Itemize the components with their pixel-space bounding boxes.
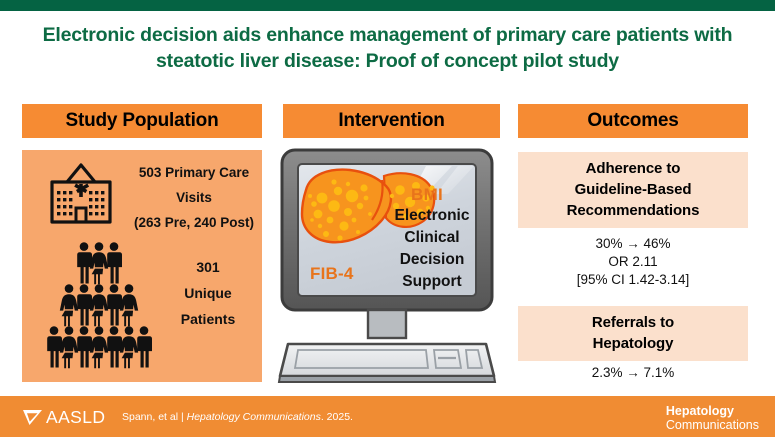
visits-line-2: Visits: [130, 185, 258, 210]
ecds-text: Electronic Clinical Decision Support: [374, 205, 490, 293]
study-population-panel: 503 Primary Care Visits (263 Pre, 240 Po…: [22, 150, 262, 382]
visits-line-3: (263 Pre, 240 Post): [130, 210, 258, 235]
outcome1-value-3: [95% CI 1.42-3.14]: [518, 271, 748, 289]
outcome-heading-referrals: Referrals to Hepatology: [518, 306, 748, 361]
column-header-study-population: Study Population: [22, 104, 262, 138]
aasld-logo: AASLD: [22, 407, 105, 428]
brand-line-1: Hepatology: [666, 405, 759, 419]
outcome-heading-adherence: Adherence to Guideline-Based Recommendat…: [518, 152, 748, 228]
patients-line-2: Unique: [162, 280, 254, 306]
column-header-intervention: Intervention: [283, 104, 500, 138]
people-pyramid-icon: [40, 242, 158, 379]
fib4-label: FIB-4: [310, 264, 354, 284]
bmi-label: BMI: [411, 185, 443, 205]
ecds-line-2: Clinical: [374, 227, 490, 249]
outcome2-head-line-2: Hepatology: [518, 333, 748, 354]
citation-authors: Spann, et al |: [122, 411, 187, 423]
citation-year: . 2025.: [321, 411, 353, 423]
brand-line-2: Communications: [666, 419, 759, 433]
outcome2-value-1: 2.3% → 7.1%: [518, 364, 748, 382]
outcome1-head-line-1: Adherence to: [518, 158, 748, 179]
column-header-outcomes: Outcomes: [518, 104, 748, 138]
patients-line-3: Patients: [162, 306, 254, 332]
citation: Spann, et al | Hepatology Communications…: [122, 411, 353, 423]
aasld-mark-icon: [22, 408, 44, 427]
patients-line-1: 301: [162, 254, 254, 280]
aasld-wordmark: AASLD: [46, 407, 105, 428]
patients-stat: 301 Unique Patients: [162, 254, 254, 332]
outcome2-head-line-1: Referrals to: [518, 312, 748, 333]
ecds-line-1: Electronic: [374, 205, 490, 227]
footer-bar: AASLD Spann, et al | Hepatology Communic…: [0, 396, 775, 437]
outcome1-value-2: OR 2.11: [518, 253, 748, 271]
ecds-line-3: Decision: [374, 249, 490, 271]
visits-stat: 503 Primary Care Visits (263 Pre, 240 Po…: [130, 160, 258, 235]
outcome1-head-line-3: Recommendations: [518, 200, 748, 221]
top-accent-bar: [0, 0, 775, 11]
journal-brand: Hepatology Communications: [666, 405, 759, 432]
outcome-values-adherence: 30% → 46% OR 2.11 [95% CI 1.42-3.14]: [518, 235, 748, 289]
hospital-building-icon: [42, 158, 120, 231]
page-title: Electronic decision aids enhance managem…: [30, 22, 745, 74]
visits-line-1: 503 Primary Care: [130, 160, 258, 185]
outcome1-value-1: 30% → 46%: [518, 235, 748, 253]
outcome-values-referrals: 2.3% → 7.1%: [518, 364, 748, 382]
outcome1-head-line-2: Guideline-Based: [518, 179, 748, 200]
citation-journal: Hepatology Communications: [187, 411, 321, 423]
ecds-line-4: Support: [374, 271, 490, 293]
